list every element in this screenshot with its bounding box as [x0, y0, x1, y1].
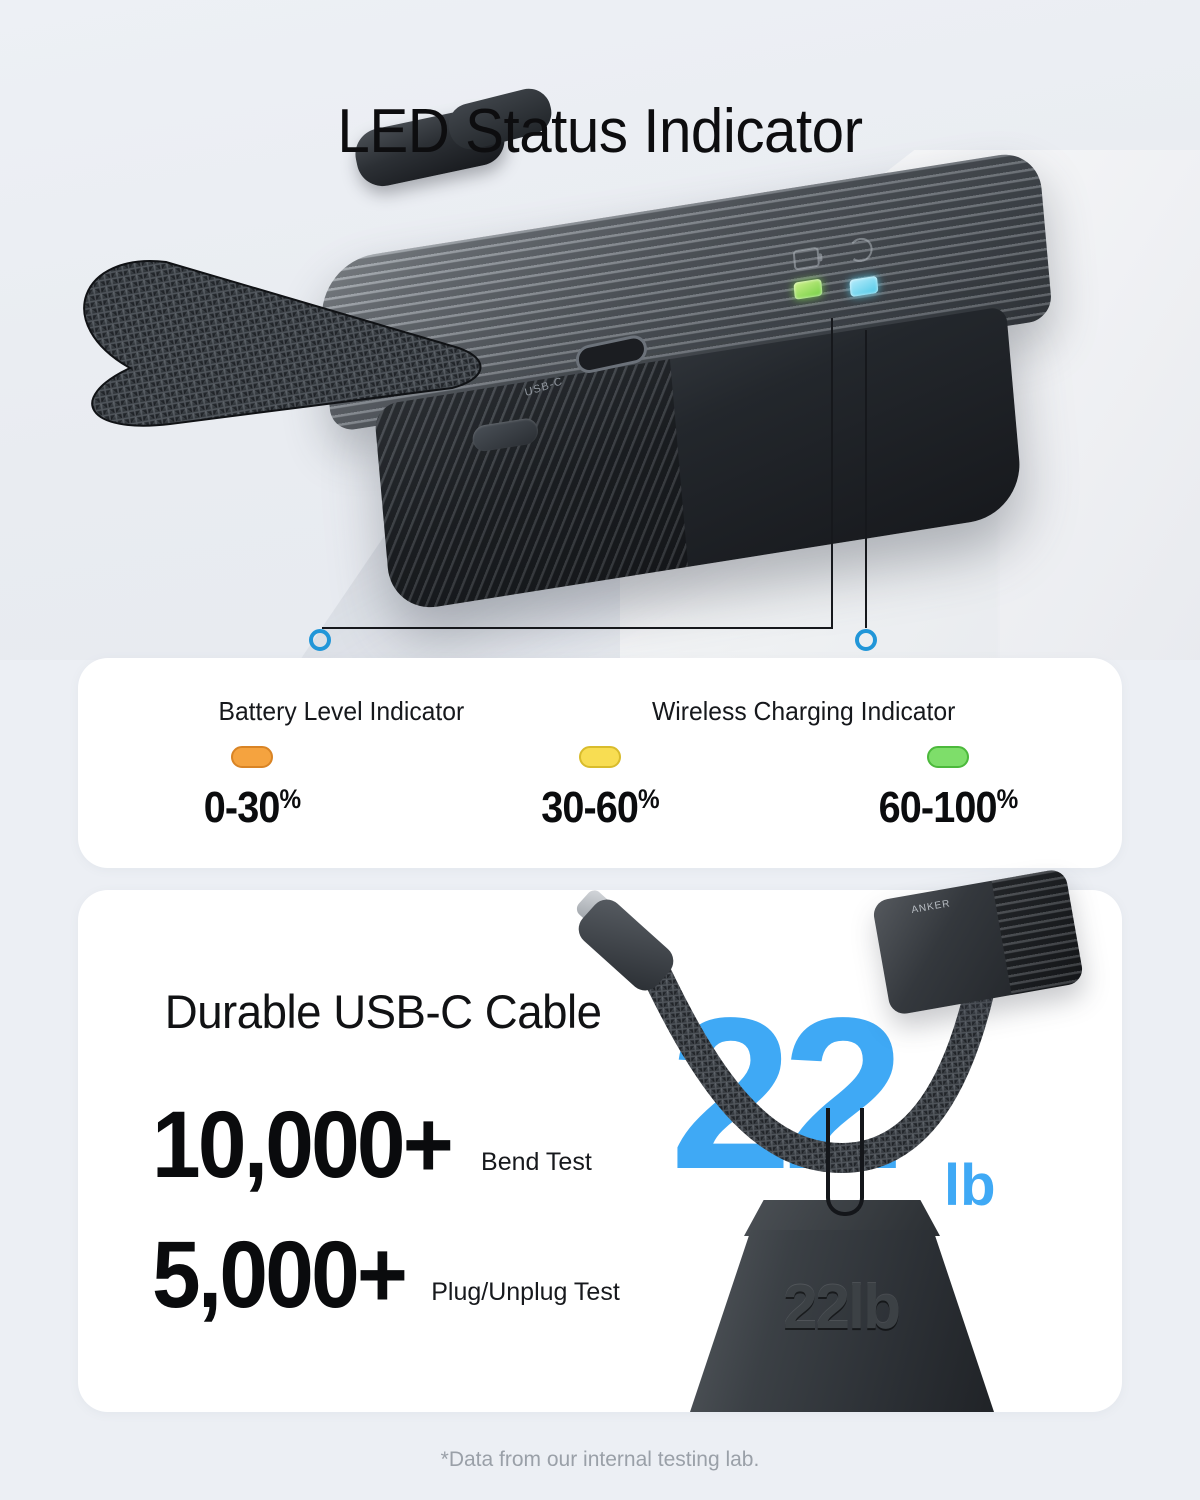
battery-level-indicator-heading: Battery Level Indicator	[218, 696, 464, 727]
wireless-charging-indicator-heading: Wireless Charging Indicator	[652, 696, 955, 727]
led-pill-green	[927, 746, 969, 768]
callout-endpoint-wireless	[857, 631, 875, 649]
weight-block: 22lb	[676, 1200, 1006, 1412]
led-pill-orange	[231, 746, 273, 768]
led-level-item-0: 0-30%	[78, 746, 426, 833]
led-range-1: 30-60%	[443, 783, 756, 833]
percent-sign-0: %	[279, 784, 300, 814]
led-level-item-2: 60-100%	[774, 746, 1122, 833]
led-range-0: 0-30%	[95, 783, 408, 833]
weight-big-unit: lb	[944, 1152, 996, 1219]
hero-section: USB-C	[0, 0, 1200, 660]
percent-sign-2: %	[997, 784, 1018, 814]
led-pill-yellow	[579, 746, 621, 768]
power-bank-small-texture	[992, 868, 1085, 995]
weight-hook	[826, 1108, 864, 1216]
footnote: *Data from our internal testing lab.	[0, 1448, 1200, 1472]
callout-lines	[0, 0, 1200, 660]
weight-block-label: 22lb	[676, 1272, 1006, 1343]
callout-endpoint-battery	[311, 631, 329, 649]
brand-logo: ANKER	[911, 898, 952, 916]
led-indicator-card: Battery Level Indicator Wireless Chargin…	[78, 658, 1122, 868]
percent-sign-1: %	[638, 784, 659, 814]
led-level-row: 0-30% 30-60% 60-100%	[78, 746, 1122, 833]
led-range-2: 60-100%	[791, 783, 1104, 833]
led-level-item-1: 30-60%	[426, 746, 774, 833]
